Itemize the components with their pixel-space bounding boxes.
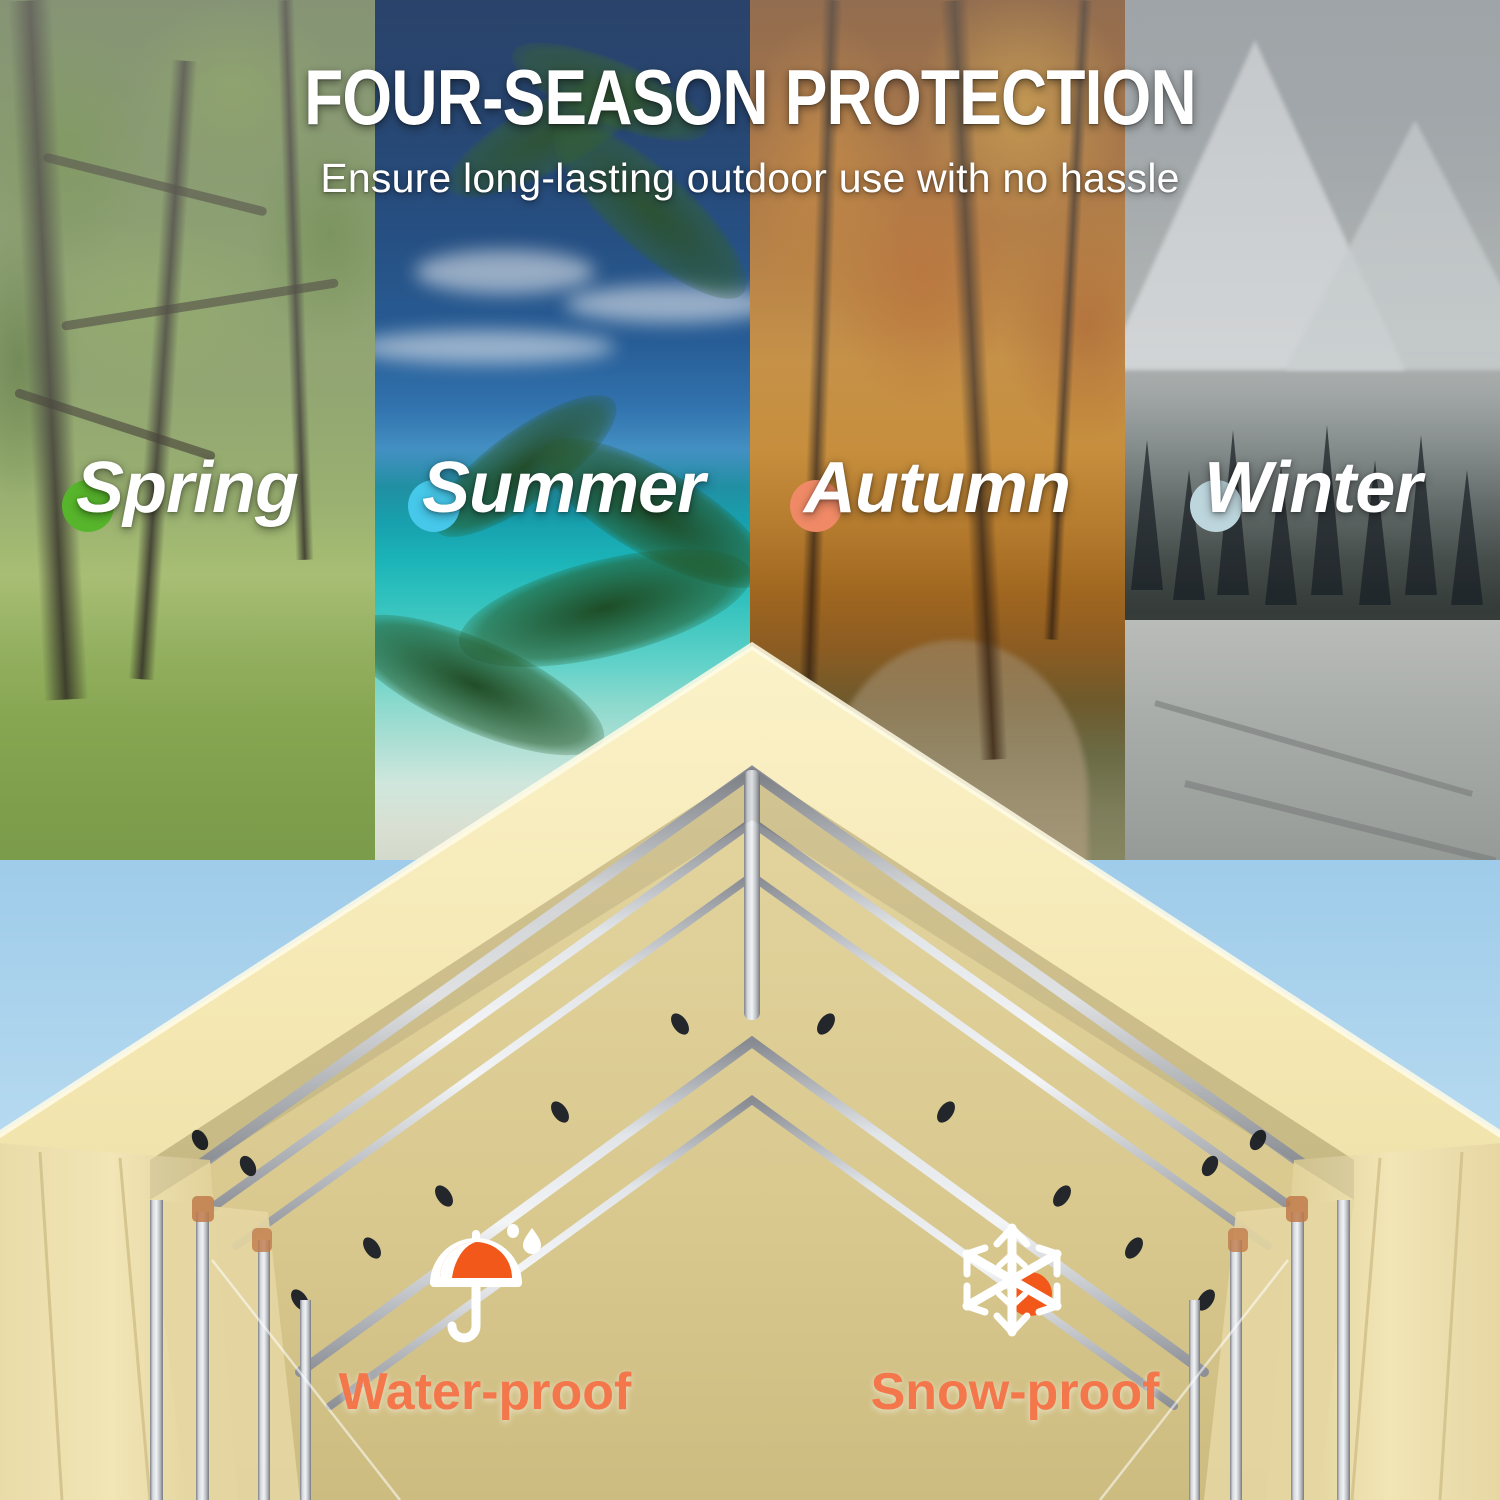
feature-badge-row: Water-proof <box>0 1210 1500 1418</box>
page-title: FOUR-SEASON PROTECTION <box>135 58 1365 136</box>
feature-label: Water-proof <box>320 1366 650 1418</box>
headline-block: FOUR-SEASON PROTECTION Ensure long-lasti… <box>0 58 1500 199</box>
page-subtitle: Ensure long-lasting outdoor use with no … <box>0 158 1500 199</box>
product-marketing-image: FOUR-SEASON PROTECTION Ensure long-lasti… <box>0 0 1500 1500</box>
umbrella-raindrop-icon <box>320 1210 650 1360</box>
feature-waterproof: Water-proof <box>320 1210 650 1418</box>
feature-label: Snow-proof <box>850 1366 1180 1418</box>
feature-snowproof: Snow-proof <box>850 1210 1180 1418</box>
snowflake-icon <box>850 1210 1180 1360</box>
